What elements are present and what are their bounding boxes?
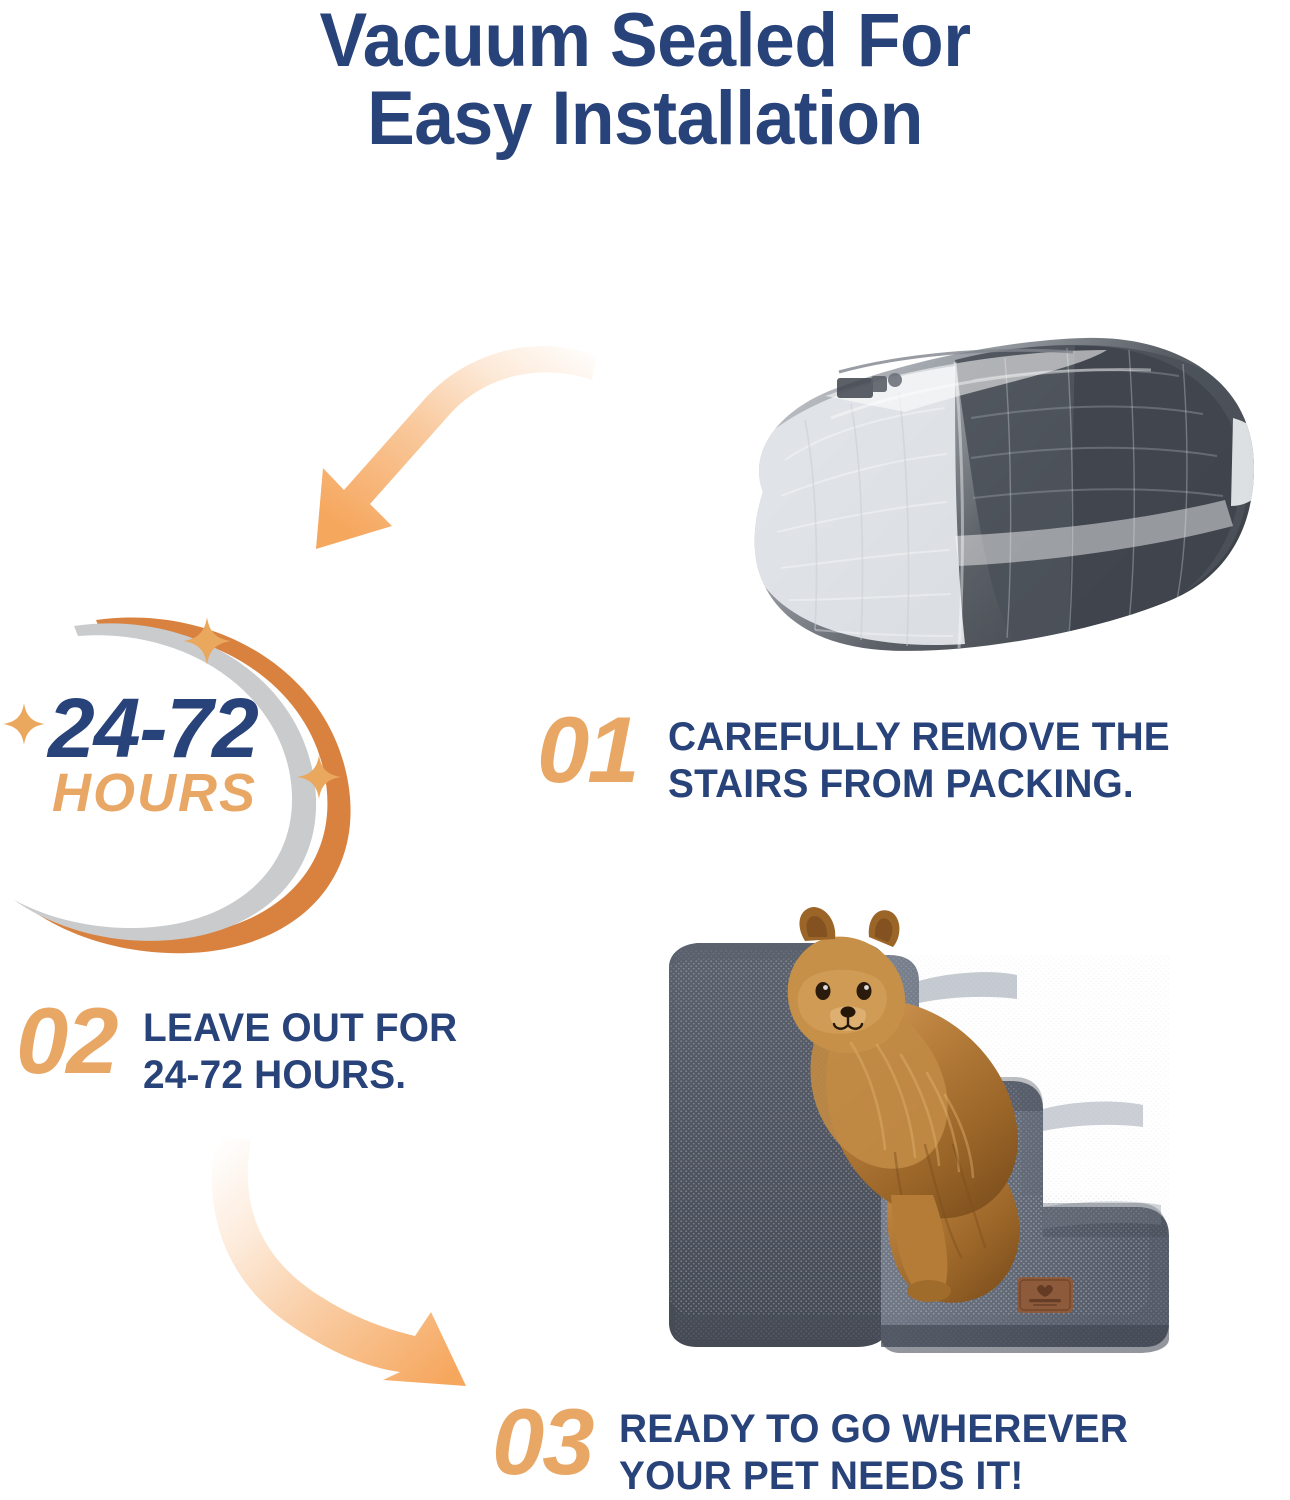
sparkle-icon-left xyxy=(2,702,46,746)
step-number-02: 02 xyxy=(16,997,117,1085)
sparkle-icon-right xyxy=(296,754,342,800)
step-number-01: 01 xyxy=(537,706,638,794)
step-text-03: READY TO GO WHEREVER YOUR PET NEEDS IT! xyxy=(619,1398,1128,1500)
step-item-02: 02 LEAVE OUT FOR 24-72 HOURS. xyxy=(16,997,467,1099)
step-text-01: CAREFULLY REMOVE THE STAIRS FROM PACKING… xyxy=(668,706,1170,808)
badge-number: 24-72 xyxy=(48,686,258,770)
curved-arrow-down-left xyxy=(300,318,600,578)
badge-unit-label: HOURS xyxy=(52,766,257,820)
step-item-03: 03 READY TO GO WHEREVER YOUR PET NEEDS I… xyxy=(492,1398,1143,1500)
step-text-02-line-1: LEAVE OUT FOR xyxy=(143,1005,457,1052)
step-text-01-line-1: CAREFULLY REMOVE THE xyxy=(668,714,1170,761)
step-number-03: 03 xyxy=(492,1398,593,1486)
page-title: Vacuum Sealed For Easy Installation xyxy=(39,2,1252,157)
step-text-02: LEAVE OUT FOR 24-72 HOURS. xyxy=(143,997,457,1099)
step-item-01: 01 CAREFULLY REMOVE THE STAIRS FROM PACK… xyxy=(537,706,1185,808)
sparkle-icon-top xyxy=(182,616,232,666)
brand-logo-patch xyxy=(1017,1277,1073,1313)
wait-time-badge: 24-72 HOURS xyxy=(0,596,430,976)
page-title-line-1: Vacuum Sealed For xyxy=(39,2,1252,80)
step-text-03-line-1: READY TO GO WHEREVER xyxy=(619,1406,1128,1453)
step-text-01-line-2: STAIRS FROM PACKING. xyxy=(668,761,1170,808)
curved-arrow-down-right xyxy=(178,1128,543,1398)
step-text-02-line-2: 24-72 HOURS. xyxy=(143,1052,457,1099)
pet-stairs-with-dog-photo xyxy=(645,895,1275,1395)
page-title-line-2: Easy Installation xyxy=(39,80,1252,158)
vacuum-sealed-package-photo xyxy=(655,300,1285,705)
step-text-03-line-2: YOUR PET NEEDS IT! xyxy=(619,1453,1128,1500)
